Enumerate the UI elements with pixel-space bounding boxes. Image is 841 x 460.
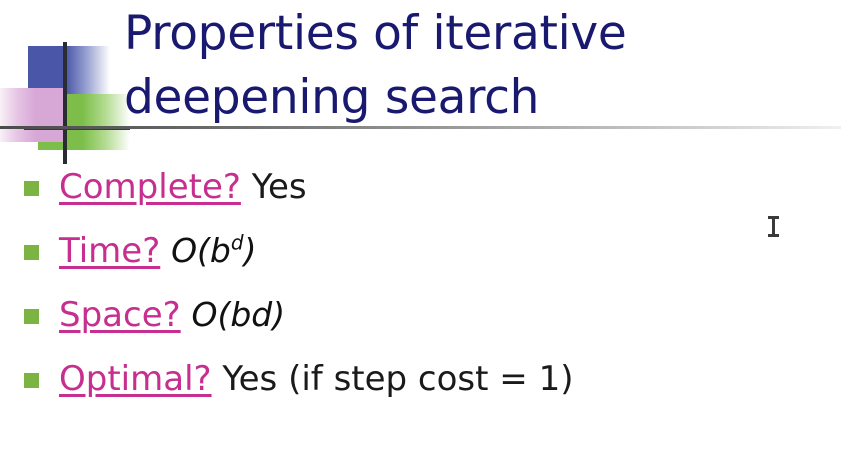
title-divider	[0, 126, 841, 129]
complexity-formula: O(b	[171, 231, 231, 270]
bullet-list: Complete? Yes Time? O(bd) Space? O(bd) O…	[24, 165, 824, 421]
list-item: Optimal? Yes (if step cost = 1)	[24, 357, 824, 421]
vertical-crosshair-line	[63, 42, 67, 164]
complexity-formula: O(bd)	[191, 295, 285, 334]
list-item-text: Complete? Yes	[59, 165, 824, 209]
list-item: Space? O(bd)	[24, 293, 824, 357]
list-item-value	[160, 231, 171, 271]
list-item: Complete? Yes	[24, 165, 824, 229]
list-item-text: Space? O(bd)	[59, 293, 824, 337]
slide-title: Properties of iterative deepening search	[124, 2, 824, 130]
list-item-value: Yes (if step cost = 1)	[212, 359, 574, 399]
square-bullet-icon	[24, 245, 39, 260]
square-bullet-icon	[24, 373, 39, 388]
list-item-label[interactable]: Optimal?	[59, 359, 212, 399]
square-bullet-icon	[24, 181, 39, 196]
blue-square-icon	[28, 46, 110, 96]
green-square-icon	[38, 94, 130, 150]
list-item: Time? O(bd)	[24, 229, 824, 293]
list-item-text: Time? O(bd)	[59, 229, 824, 273]
presentation-slide: Properties of iterative deepening search…	[0, 0, 841, 460]
slide-logo-mark	[0, 30, 140, 160]
complexity-formula-tail: )	[244, 231, 257, 270]
list-item-label[interactable]: Time?	[59, 231, 160, 271]
list-item-label[interactable]: Complete?	[59, 167, 241, 207]
list-item-text: Optimal? Yes (if step cost = 1)	[59, 357, 824, 401]
list-item-label[interactable]: Space?	[59, 295, 181, 335]
complexity-exponent: d	[231, 231, 244, 255]
square-bullet-icon	[24, 309, 39, 324]
pink-square-icon	[0, 88, 66, 142]
list-item-value	[181, 295, 192, 335]
list-item-value: Yes	[241, 167, 307, 207]
